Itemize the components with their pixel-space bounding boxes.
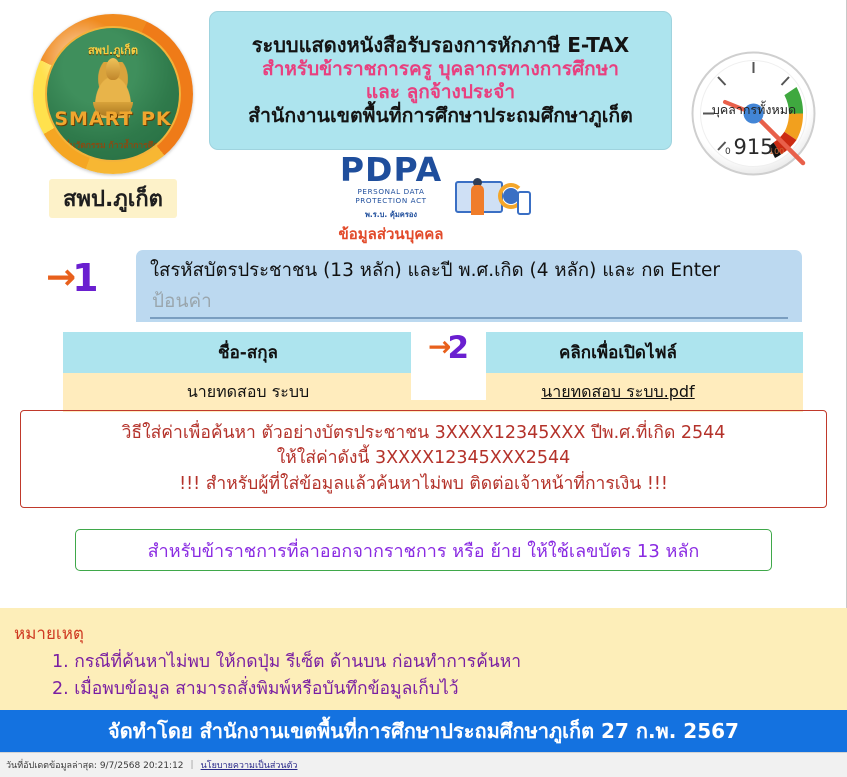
status-separator: | bbox=[191, 760, 194, 770]
pdpa-expansion: PERSONAL DATA PROTECTION ACT bbox=[331, 187, 451, 205]
step-2-marker: → 2 bbox=[411, 328, 486, 400]
result-table-zone: ชื่อ-สกุล คลิกเพื่อเปิดไฟล์ นายทดสอบ ระบ… bbox=[63, 332, 803, 412]
status-bar: วันที่อัปเดตข้อมูลล่าสุด: 9/7/2568 20:21… bbox=[0, 752, 847, 777]
retired-staff-notice-text: สำหรับข้าราชการที่ลาออกจากราชการ หรือ ย้… bbox=[148, 536, 700, 565]
footer-bar: จัดทำโดย สำนักงานเขตพื้นที่การศึกษาประถม… bbox=[0, 710, 847, 752]
step-1-search: → 1 ใสรหัสบัตรประชาชน (13 หลัก) และปี พ.… bbox=[46, 250, 802, 322]
citizen-id-search-input[interactable] bbox=[150, 287, 788, 319]
person-body-icon bbox=[471, 185, 484, 215]
logo-bottom-text: พื้นที่นวัตกรรม ก้าวล้ำการศึกษาฯ bbox=[47, 138, 179, 152]
column-header-file: คลิกเพื่อเปิดไฟล์ bbox=[433, 332, 803, 373]
search-input-label: ใสรหัสบัตรประชาชน (13 หลัก) และปี พ.ศ.เก… bbox=[150, 256, 788, 285]
step-2-number: 2 bbox=[447, 333, 469, 364]
pdpa-illustration-icon bbox=[451, 167, 536, 231]
page-title-line1: ระบบแสดงหนังสือรับรองการหักภาษี E-TAX bbox=[252, 33, 629, 57]
list-item: 2. เมื่อพบข้อมูล สามารถสั่งพิมพ์หรือบันท… bbox=[52, 676, 847, 703]
pdpa-text-block: PDPA PERSONAL DATA PROTECTION ACT พ.ร.บ.… bbox=[331, 153, 451, 246]
step-1-marker: → 1 bbox=[46, 259, 99, 297]
notes-section: หมายเหตุ 1. กรณีที่ค้นหาไม่พบ ให้กดปุ่ม … bbox=[0, 608, 847, 710]
notes-title: หมายเหตุ bbox=[14, 620, 847, 647]
logo-top-text: สพป.ภูเก็ต bbox=[47, 41, 179, 59]
page-title-line3: และ ลูกจ้างประจำ bbox=[366, 81, 515, 104]
cell-name: นายทดสอบ ระบบ bbox=[63, 373, 433, 412]
logo-label: สพป.ภูเก็ต bbox=[49, 179, 177, 218]
logo-inner-disc: สพป.ภูเก็ต SMART PK พื้นที่นวัตกรรม ก้าว… bbox=[45, 26, 181, 162]
pdpa-banner: PDPA PERSONAL DATA PROTECTION ACT พ.ร.บ.… bbox=[331, 163, 536, 235]
footer-credit-text: จัดทำโดย สำนักงานเขตพื้นที่การศึกษาประถม… bbox=[108, 715, 739, 747]
page-title-card: ระบบแสดงหนังสือรับรองการหักภาษี E-TAX สำ… bbox=[209, 11, 672, 150]
step-1-number: 1 bbox=[72, 259, 98, 297]
page-root: สพป.ภูเก็ต SMART PK พื้นที่นวัตกรรม ก้าว… bbox=[0, 0, 847, 777]
instructions-line1: วิธีใส่ค่าเพื่อค้นหา ตัวอย่างบัตรประชาชน… bbox=[122, 421, 726, 446]
page-title-line4: สำนักงานเขตพื้นที่การศึกษาประถมศึกษาภูเก… bbox=[248, 104, 633, 128]
pdf-file-link[interactable]: นายทดสอบ ระบบ.pdf bbox=[541, 382, 694, 401]
pdpa-act-label: พ.ร.บ. คุ้มครอง bbox=[331, 209, 451, 221]
retired-staff-notice-green: สำหรับข้าราชการที่ลาออกจากราชการ หรือ ย้… bbox=[75, 529, 772, 571]
page-title-line2: สำหรับข้าราชการครู บุคลากรทางการศึกษา bbox=[262, 58, 619, 81]
pdpa-acronym: PDPA bbox=[331, 153, 451, 186]
pdpa-thai-label: ข้อมูลส่วนบุคคล bbox=[331, 222, 451, 246]
gauge-value: 915 bbox=[691, 135, 816, 159]
list-item: 1. กรณีที่ค้นหาไม่พบ ให้กดปุ่ม รีเซ็ต ด้… bbox=[52, 649, 847, 676]
organization-logo: สพป.ภูเก็ต SMART PK พื้นที่นวัตกรรม ก้าว… bbox=[18, 14, 208, 218]
logo-brand-text: SMART PK bbox=[47, 108, 179, 130]
personnel-gauge: 0 100 บุคลากรทั้งหมด 915 bbox=[691, 51, 816, 176]
privacy-policy-link[interactable]: นโยบายความเป็นส่วนตัว bbox=[201, 758, 298, 772]
notes-list: 1. กรณีที่ค้นหาไม่พบ ให้กดปุ่ม รีเซ็ต ด้… bbox=[14, 649, 847, 703]
header-zone: สพป.ภูเก็ต SMART PK พื้นที่นวัตกรรม ก้าว… bbox=[0, 0, 846, 240]
instructions-line2: ให้ใส่ค่าดังนี้ 3XXXX12345XXX2544 bbox=[277, 446, 571, 471]
cell-file[interactable]: นายทดสอบ ระบบ.pdf bbox=[433, 373, 803, 412]
logo-circle: สพป.ภูเก็ต SMART PK พื้นที่นวัตกรรม ก้าว… bbox=[33, 14, 193, 174]
instructions-line3: !!! สำหรับผู้ที่ใส่ข้อมูลแล้วค้นหาไม่พบ … bbox=[179, 472, 668, 497]
search-input-card: ใสรหัสบัตรประชาชน (13 หลัก) และปี พ.ศ.เก… bbox=[136, 250, 802, 322]
last-updated-text: วันที่อัปเดตข้อมูลล่าสุด: 9/7/2568 20:21… bbox=[6, 758, 184, 772]
column-header-name: ชื่อ-สกุล bbox=[63, 332, 433, 373]
gauge-caption: บุคลากรทั้งหมด bbox=[693, 100, 815, 120]
phone-icon bbox=[517, 191, 531, 215]
instructions-notice-red: วิธีใส่ค่าเพื่อค้นหา ตัวอย่างบัตรประชาชน… bbox=[20, 410, 827, 508]
